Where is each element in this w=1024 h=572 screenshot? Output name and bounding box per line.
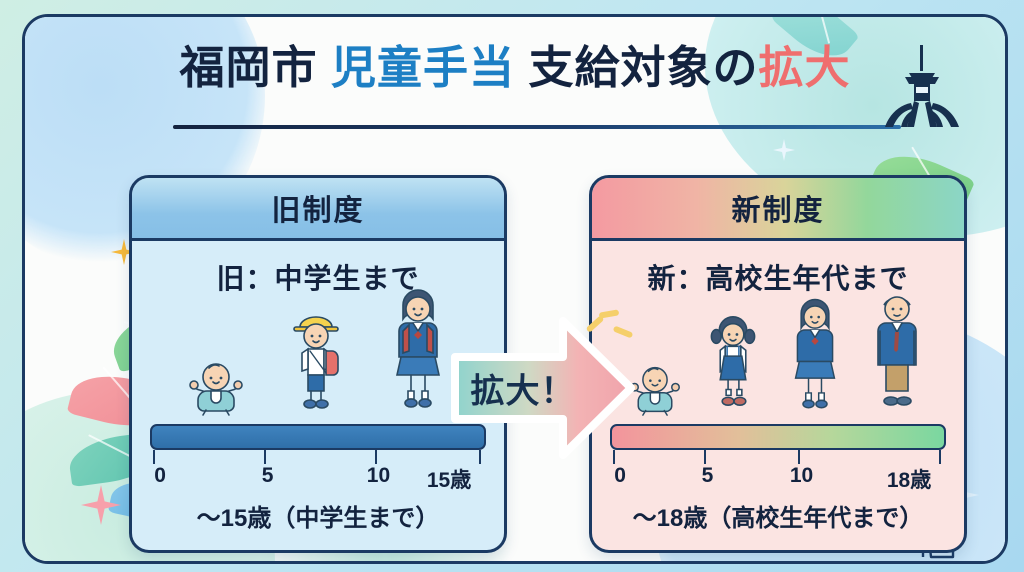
panel-new-age-bar xyxy=(610,424,946,450)
panel-old-tick-marks xyxy=(150,450,486,464)
fukuoka-tower-logo-icon xyxy=(883,43,961,129)
panel-old-tick-labels: 0 5 10 15歳 xyxy=(150,464,486,494)
panel-new-system: 新制度 新：高校生年代まで xyxy=(589,175,967,553)
page-title: 福岡市 児童手当 支給対象の拡大 xyxy=(25,43,1005,93)
title-part-scope: 支給対象の xyxy=(529,42,759,93)
figure-elementary-boy-icon xyxy=(286,305,346,422)
panel-new-tick-marks xyxy=(610,450,946,464)
poster-card: 福岡市 児童手当 支給対象の拡大 xyxy=(22,14,1008,564)
title-divider xyxy=(173,125,901,129)
expansion-arrow: 拡大！ xyxy=(451,313,637,463)
title-part-expansion: 拡大 xyxy=(759,42,851,93)
figure-junior-high-girl-icon xyxy=(785,293,845,422)
figure-baby-icon xyxy=(187,359,245,422)
panel-new-header: 新制度 xyxy=(592,178,964,241)
tick-label-0: 0 xyxy=(154,464,166,488)
panel-new-figures xyxy=(592,272,964,422)
tick-label-10: 10 xyxy=(790,464,813,488)
panel-old-figures xyxy=(132,272,504,422)
panel-old-caption: 〜15歳（中学生まで） xyxy=(150,498,486,533)
sparkle-star-pink-bottom-left xyxy=(81,485,121,525)
tick-label-0: 0 xyxy=(614,464,626,488)
title-part-city: 福岡市 xyxy=(179,42,317,93)
panel-old-header: 旧制度 xyxy=(132,178,504,241)
sparkle-lines-icon xyxy=(583,307,641,359)
infographic-canvas: 福岡市 児童手当 支給対象の拡大 xyxy=(0,0,1024,572)
tick-label-max: 15歳 xyxy=(427,464,471,494)
figure-high-school-boy-icon xyxy=(866,283,928,422)
figure-junior-high-girl-icon xyxy=(387,283,449,422)
tick-label-5: 5 xyxy=(262,464,274,488)
panel-old-header-label: 旧制度 xyxy=(271,187,364,229)
figure-kindergarten-girl-icon xyxy=(703,307,763,422)
panel-new-header-label: 新制度 xyxy=(731,187,824,229)
tick-label-10: 10 xyxy=(367,464,390,488)
panel-old-age-bar xyxy=(150,424,486,450)
panel-new-axis: 0 5 10 18歳 〜18歳（高校生年代まで） xyxy=(610,424,946,536)
panel-old-axis: 0 5 10 15歳 〜15歳（中学生まで） xyxy=(150,424,486,536)
sparkle-star-white-top xyxy=(773,139,795,161)
tick-label-max: 18歳 xyxy=(887,464,931,494)
panel-new-tick-labels: 0 5 10 18歳 xyxy=(610,464,946,494)
panel-new-caption: 〜18歳（高校生年代まで） xyxy=(610,498,946,533)
tick-label-5: 5 xyxy=(702,464,714,488)
title-part-allowance: 児童手当 xyxy=(331,42,515,93)
